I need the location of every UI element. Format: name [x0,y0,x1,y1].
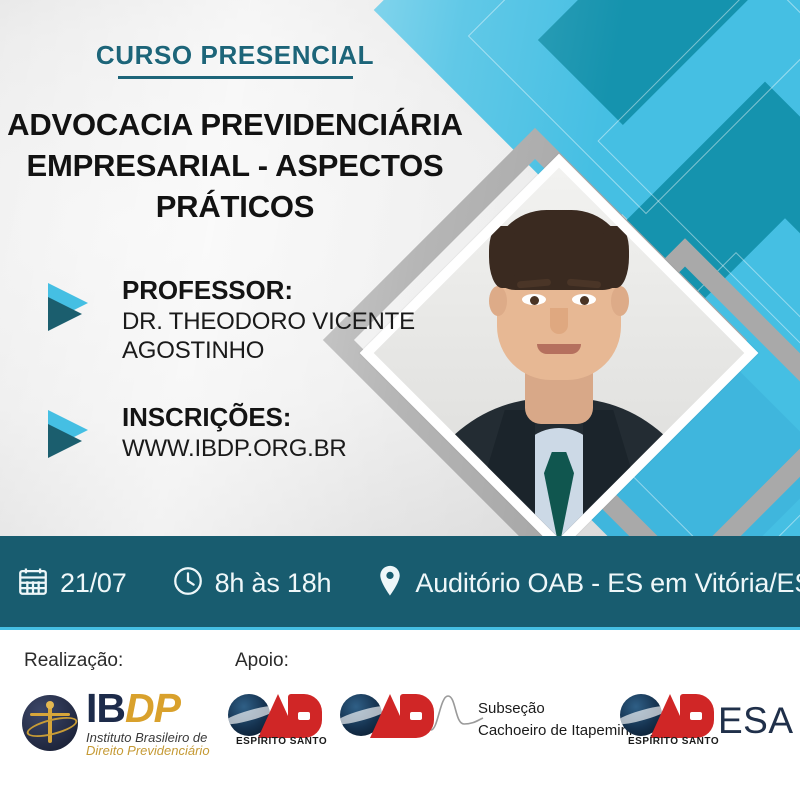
inscriptions-block: INSCRIÇÕES: WWW.IBDP.ORG.BR [44,402,464,480]
portrait-pupil-left [530,296,539,305]
apoio-label: Apoio: [235,650,289,672]
professor-heading: PROFESSOR: [122,275,464,305]
event-date-text: 21/07 [60,568,127,599]
oab-letter-b [680,694,714,738]
realizacao-label: Realização: [24,650,123,672]
oab-cachoeiro-caption: Subseção Cachoeiro de Itapemirim [478,698,641,742]
oab-cachoeiro-caption-line-1: Subseção [478,698,641,720]
inscriptions-url-text[interactable]: WWW.IBDP.ORG.BR [122,435,464,464]
portrait-nose [550,308,568,334]
course-poster: Dr. Theodoro Vicente Agostinho CURSO PRE… [0,0,800,800]
oab-cachoeiro-swoosh-icon [430,690,484,734]
oab-esa-logo: ESPÍRITO SANTO [620,692,720,744]
event-place: Auditório OAB - ES em Vitória/ES [353,564,800,603]
course-title-line-1: ADVOCACIA PREVIDENCIÁRIA [0,105,470,146]
portrait-mouth [537,344,581,354]
course-kicker: CURSO PRESENCIAL [0,40,470,71]
oab-cachoeiro-logo [340,692,440,744]
clock-icon [171,564,205,603]
ibdp-mark-ib: IB [86,685,125,731]
ibdp-figure-ring [25,712,79,740]
oab-letter-b [400,694,434,738]
event-place-text: Auditório OAB - ES em Vitória/ES [415,568,800,599]
portrait-ear-right [611,286,629,316]
ibdp-subtitle-line-2: Direito Previdenciário [86,744,210,757]
oab-mark: ESPÍRITO SANTO [620,692,720,744]
hero-section: Dr. Theodoro Vicente Agostinho CURSO PRE… [0,0,800,536]
course-title: ADVOCACIA PREVIDENCIÁRIA EMPRESARIAL - A… [0,105,470,228]
location-pin-icon [375,564,405,603]
event-time: 8h às 18h [149,564,354,603]
event-time-text: 8h às 18h [215,568,332,599]
professor-name: DR. THEODORO VICENTE AGOSTINHO [122,308,464,366]
oab-espirito-santo-logo: ESPÍRITO SANTO [228,692,328,744]
detail-blocks: PROFESSOR: DR. THEODORO VICENTE AGOSTINH… [44,275,464,516]
portrait-hair-side-left [489,226,515,288]
event-info-bar: 21/07 8h às 18h Auditório OAB - ES em Vi… [0,536,800,630]
ibdp-logo: IBDP Instituto Brasileiro de Direito Pre… [22,688,210,757]
ibdp-figure-arms [30,713,70,716]
event-date: 21/07 [0,564,149,603]
course-title-line-3: PRÁTICOS [0,187,470,228]
inscriptions-heading: INSCRIÇÕES: [122,402,464,432]
ibdp-emblem-icon [22,695,78,751]
inscriptions-url[interactable]: WWW.IBDP.ORG.BR [122,435,464,464]
oab-letter-b [288,694,322,738]
ibdp-wordmark: IBDP Instituto Brasileiro de Direito Pre… [86,688,210,757]
calendar-icon [16,564,50,603]
professor-block: PROFESSOR: DR. THEODORO VICENTE AGOSTINH… [44,275,464,366]
oab-caption: ESPÍRITO SANTO [236,736,327,747]
ibdp-figure-head [46,701,54,709]
play-arrow-icon [44,281,92,333]
oab-cachoeiro-caption-line-2: Cachoeiro de Itapemirim [478,720,641,742]
esa-acronym: ESA [718,700,794,742]
portrait-hair-side-right [603,226,629,288]
play-arrow-icon [44,408,92,460]
oab-mark [340,692,440,744]
portrait-ear-left [489,286,507,316]
professor-name-line-1: DR. THEODORO VICENTE [122,308,464,337]
professor-name-line-2: AGOSTINHO [122,337,464,366]
kicker-underline [118,76,353,79]
course-title-line-2: EMPRESARIAL - ASPECTOS [0,146,470,187]
oab-caption: ESPÍRITO SANTO [628,736,719,747]
portrait-pupil-right [580,296,589,305]
ibdp-mark: IBDP [86,688,210,729]
ibdp-mark-dp: DP [125,685,180,731]
oab-mark: ESPÍRITO SANTO [228,692,328,744]
